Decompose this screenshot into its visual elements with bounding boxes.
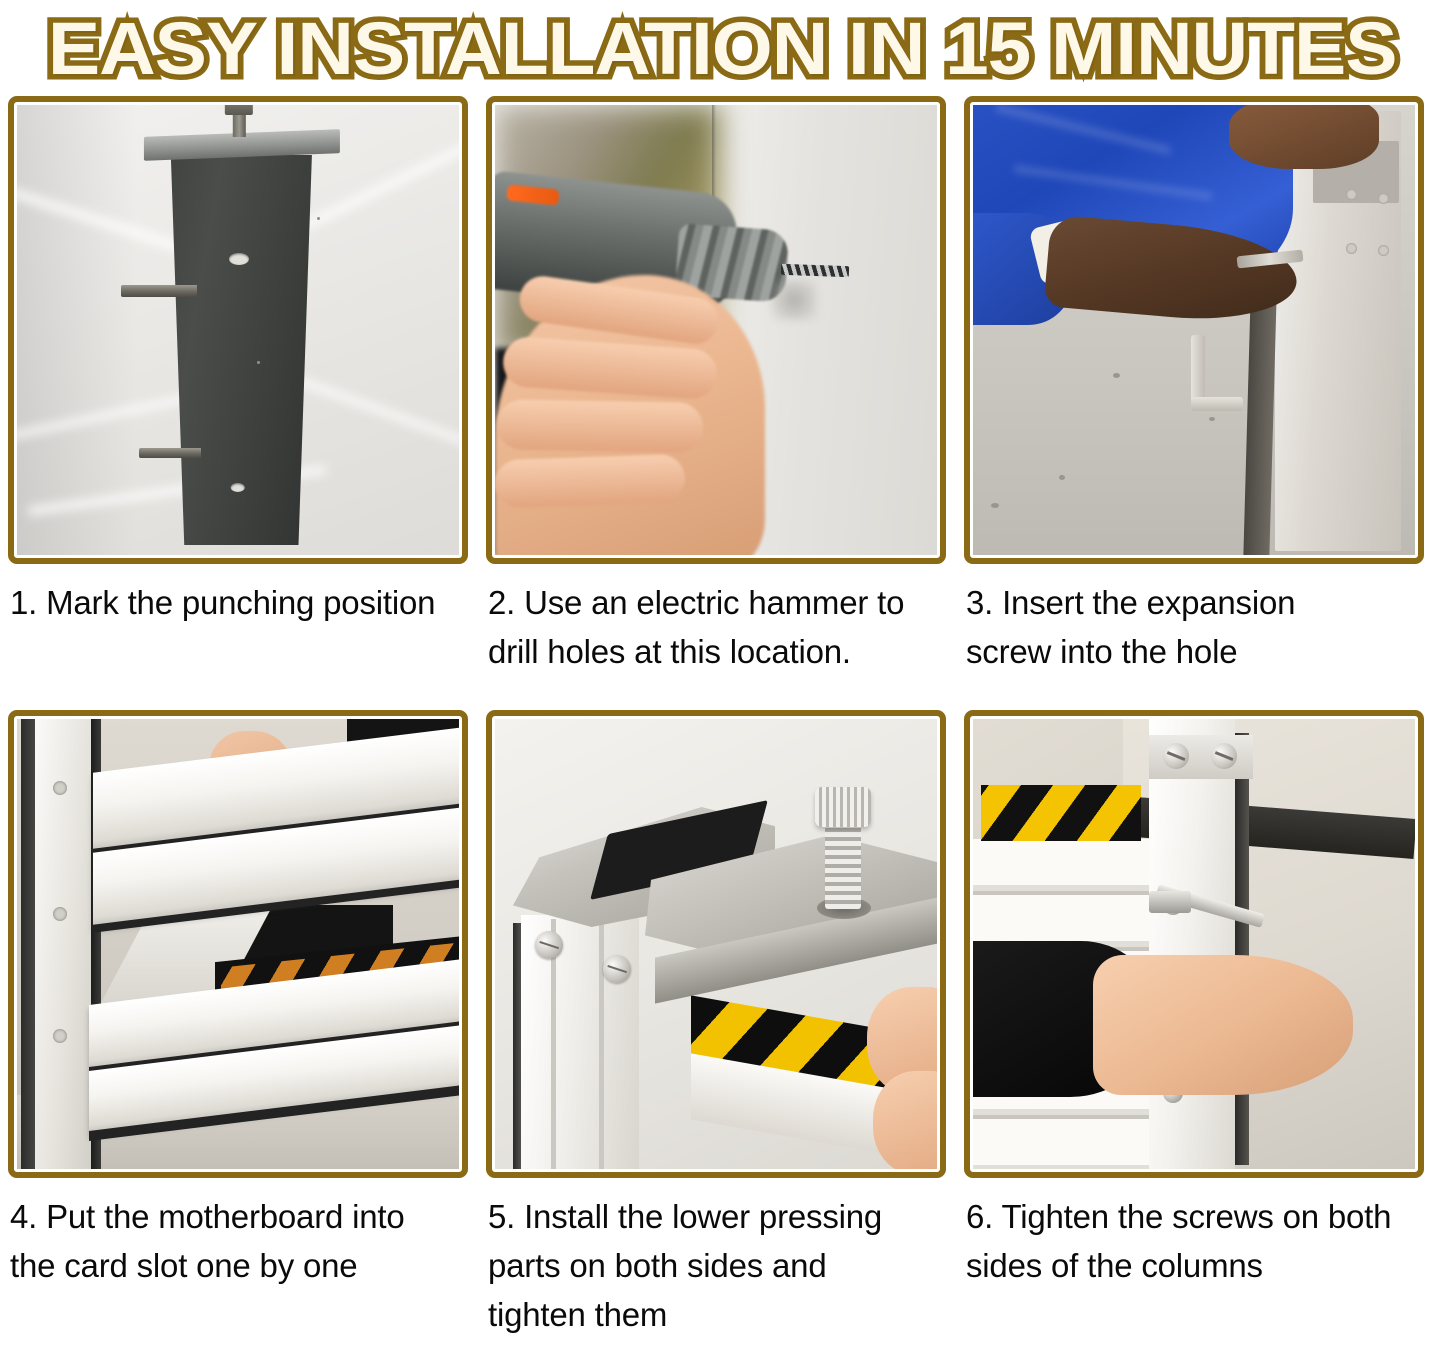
bracket-screw-right <box>603 955 631 983</box>
steps-row-top: 1. Mark the punching position <box>8 96 1437 710</box>
post-hole-upper <box>229 253 249 265</box>
step-caption-2: 2. Use an electric hammer to drill holes… <box>486 564 946 710</box>
step-card-1: 1. Mark the punching position <box>8 96 468 710</box>
steps-grid: 1. Mark the punching position <box>0 96 1445 1342</box>
step-caption-3: 3. Insert the expansion screw into the h… <box>964 564 1424 710</box>
photo-drill-holes <box>495 105 937 555</box>
thumbscrew-head <box>815 787 871 827</box>
worker-hand-upper <box>1229 105 1379 169</box>
column-side <box>1149 719 1235 1169</box>
hazard-tape-upper <box>981 785 1141 841</box>
step-card-3: 3. Insert the expansion screw into the h… <box>964 96 1424 710</box>
steps-row-bottom: 4. Put the motherboard into the card slo… <box>8 710 1437 1342</box>
page-title: EASY INSTALLATION IN 15 MINUTES <box>48 12 1397 86</box>
photo-mark-punching-position <box>17 105 459 555</box>
photo-frame-1 <box>8 96 468 564</box>
photo-frame-6 <box>964 710 1424 1178</box>
photo-insert-boards-card-slot <box>17 719 459 1169</box>
side-bolt-lower <box>139 448 201 458</box>
step-card-4: 4. Put the motherboard into the card slo… <box>8 710 468 1342</box>
side-bolt-upper <box>121 285 197 297</box>
title-banner: EASY INSTALLATION IN 15 MINUTES <box>0 0 1445 96</box>
step-caption-1: 1. Mark the punching position <box>8 564 468 710</box>
post-hole-lower <box>231 483 245 492</box>
photo-frame-5 <box>486 710 946 1178</box>
photo-frame-2 <box>486 96 946 564</box>
photo-install-pressing-parts <box>495 719 937 1169</box>
bracket-screw-left <box>535 931 563 959</box>
step-card-2: 2. Use an electric hammer to drill holes… <box>486 96 946 710</box>
photo-insert-expansion-screw <box>973 105 1415 555</box>
drill-dust <box>771 280 817 320</box>
drill-bit <box>781 264 849 277</box>
hand-with-allen-key <box>1093 955 1353 1095</box>
step-card-6: 6. Tighten the screws on both sides of t… <box>964 710 1424 1342</box>
step-card-5: 5. Install the lower pressing parts on b… <box>486 710 946 1342</box>
rod-nut <box>225 105 253 115</box>
photo-tighten-column-screws <box>973 719 1415 1169</box>
thumbscrew-shaft <box>825 823 861 909</box>
step-caption-6: 6. Tighten the screws on both sides of t… <box>964 1178 1424 1342</box>
step-caption-4: 4. Put the motherboard into the card slo… <box>8 1178 468 1342</box>
photo-frame-4 <box>8 710 468 1178</box>
photo-frame-3 <box>964 96 1424 564</box>
step-caption-5: 5. Install the lower pressing parts on b… <box>486 1178 946 1342</box>
